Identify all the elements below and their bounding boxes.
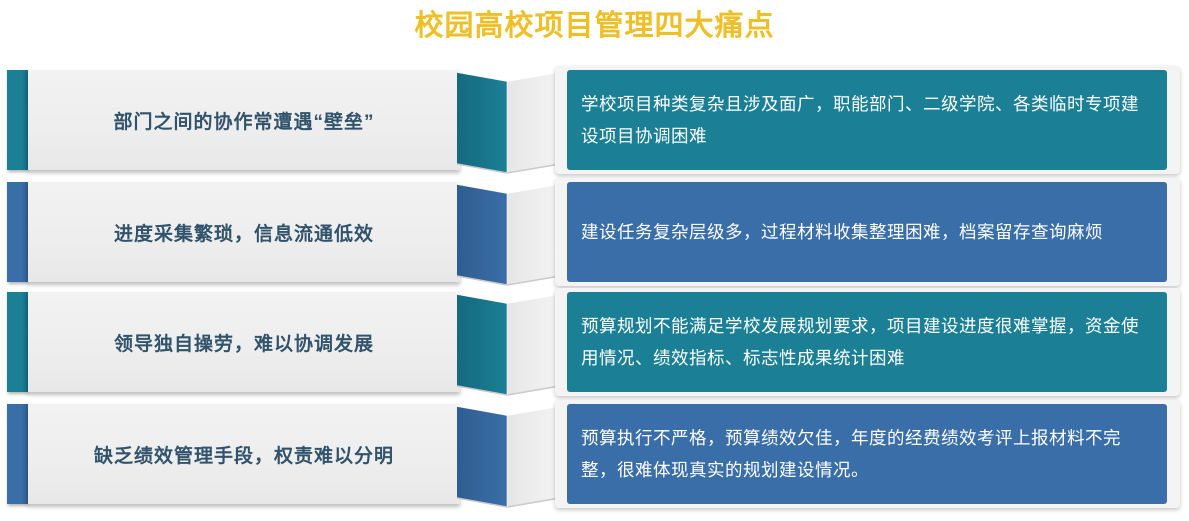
pain-point-label: 领导独自操劳，难以协调发展 (114, 329, 374, 356)
pain-point-label: 缺乏绩效管理手段，权责难以分明 (94, 441, 394, 468)
pain-point-row: 领导独自操劳，难以协调发展预算规划不能满足学校发展规划要求，项目建设进度很难掌握… (0, 292, 1189, 392)
pain-point-label: 进度采集繁琐，信息流通低效 (114, 219, 374, 246)
pain-point-row: 进度采集繁琐，信息流通低效建设任务复杂层级多，过程材料收集整理困难，档案留存查询… (0, 182, 1189, 282)
row-accent-bar (7, 292, 28, 392)
folded-page-connector-icon (455, 61, 565, 179)
folded-page-connector-icon (455, 173, 565, 291)
folded-page-connector-icon (455, 283, 565, 401)
pain-point-label: 部门之间的协作常遭遇“壁垒” (113, 107, 374, 134)
detail-text: 学校项目种类复杂且涉及面广，职能部门、二级学院、各类临时专项建设项目协调困难 (581, 88, 1153, 152)
pain-point-label-panel[interactable]: 进度采集繁琐，信息流通低效 (28, 182, 460, 282)
page-title: 校园高校项目管理四大痛点 (0, 6, 1189, 46)
detail-panel[interactable]: 预算规划不能满足学校发展规划要求，项目建设进度很难掌握，资金使用情况、绩效指标、… (567, 292, 1167, 392)
detail-text: 预算执行不严格，预算绩效欠佳，年度的经费绩效考评上报材料不完整，很难体现真实的规… (581, 422, 1153, 486)
detail-panel[interactable]: 建设任务复杂层级多，过程材料收集整理困难，档案留存查询麻烦 (567, 182, 1167, 282)
pain-point-label-panel[interactable]: 部门之间的协作常遭遇“壁垒” (28, 70, 460, 170)
detail-panel-wrapper: 预算执行不严格，预算绩效欠佳，年度的经费绩效考评上报材料不完整，很难体现真实的规… (555, 404, 1180, 504)
detail-text: 建设任务复杂层级多，过程材料收集整理困难，档案留存查询麻烦 (581, 216, 1103, 248)
detail-panel[interactable]: 预算执行不严格，预算绩效欠佳，年度的经费绩效考评上报材料不完整，很难体现真实的规… (567, 404, 1167, 504)
row-accent-bar (7, 404, 28, 504)
pain-point-row: 部门之间的协作常遭遇“壁垒”学校项目种类复杂且涉及面广，职能部门、二级学院、各类… (0, 70, 1189, 170)
folded-page-connector-icon (455, 395, 565, 513)
detail-panel[interactable]: 学校项目种类复杂且涉及面广，职能部门、二级学院、各类临时专项建设项目协调困难 (567, 70, 1167, 170)
detail-panel-wrapper: 建设任务复杂层级多，过程材料收集整理困难，档案留存查询麻烦 (555, 182, 1180, 282)
row-accent-bar (7, 182, 28, 282)
pain-point-label-panel[interactable]: 缺乏绩效管理手段，权责难以分明 (28, 404, 460, 504)
detail-panel-wrapper: 学校项目种类复杂且涉及面广，职能部门、二级学院、各类临时专项建设项目协调困难 (555, 70, 1180, 170)
pain-point-label-panel[interactable]: 领导独自操劳，难以协调发展 (28, 292, 460, 392)
detail-text: 预算规划不能满足学校发展规划要求，项目建设进度很难掌握，资金使用情况、绩效指标、… (581, 310, 1153, 374)
row-accent-bar (7, 70, 28, 170)
pain-point-row: 缺乏绩效管理手段，权责难以分明预算执行不严格，预算绩效欠佳，年度的经费绩效考评上… (0, 404, 1189, 504)
detail-panel-wrapper: 预算规划不能满足学校发展规划要求，项目建设进度很难掌握，资金使用情况、绩效指标、… (555, 292, 1180, 392)
